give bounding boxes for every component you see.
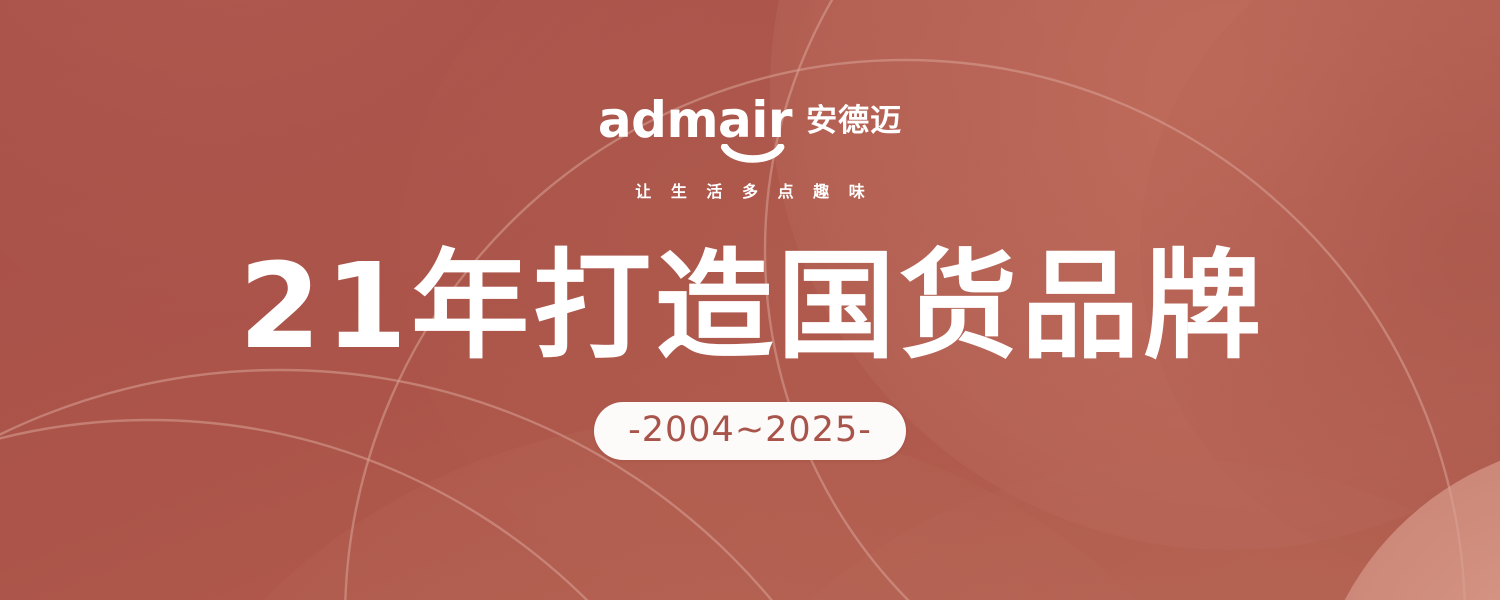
year-range-badge: -2004~2025- <box>594 402 906 460</box>
brand-logo: admair 安德迈 <box>598 96 902 144</box>
brand-tagline: 让 生 活 多 点 趣 味 <box>628 178 871 202</box>
promo-banner: admair 安德迈 让 生 活 多 点 趣 味 21年打造国货品牌 -2004… <box>0 0 1500 600</box>
headline-text: 21年打造国货品牌 <box>235 244 1265 368</box>
smile-curve-icon <box>720 144 786 164</box>
logo-chinese-name: 安德迈 <box>806 98 902 144</box>
logo-wordmark: admair <box>598 96 792 144</box>
banner-content: admair 安德迈 让 生 活 多 点 趣 味 21年打造国货品牌 -2004… <box>0 0 1500 600</box>
